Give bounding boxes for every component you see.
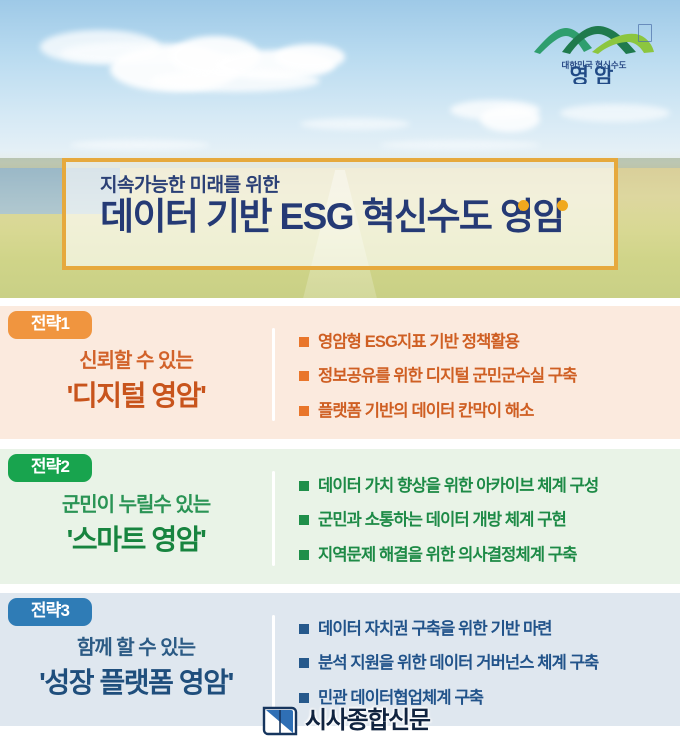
list-item: 지역문제 해결을 위한 의사결정체계 구축 bbox=[299, 545, 670, 566]
yeongam-logo: 대한민국 혁신수도 영암 bbox=[532, 22, 656, 84]
logo-seal-icon bbox=[638, 24, 652, 42]
square-bullet-icon bbox=[299, 515, 309, 525]
square-bullet-icon bbox=[299, 693, 309, 703]
list-item: 군민과 소통하는 데이터 개방 체계 구현 bbox=[299, 510, 670, 531]
strategy-1-title: '디지털 영암' bbox=[67, 380, 206, 412]
cloud-icon bbox=[300, 118, 410, 130]
cloud-icon bbox=[560, 104, 670, 122]
list-item-label: 정보공유를 위한 디지털 군민군수실 구축 bbox=[318, 366, 577, 387]
list-item-label: 데이터 자치권 구축을 위한 기반 마련 bbox=[318, 619, 552, 640]
watermark-label: 시사종합신문 bbox=[305, 709, 430, 733]
list-item-label: 분석 지원을 위한 데이터 거버넌스 체계 구축 bbox=[318, 653, 598, 674]
square-bullet-icon bbox=[299, 337, 309, 347]
hero-title-panel: 지속가능한 미래를 위한 데이터 기반 ESG 혁신수도 영암 bbox=[62, 158, 618, 270]
hero-banner: 대한민국 혁신수도 영암 지속가능한 미래를 위한 데이터 기반 ESG 혁신수… bbox=[0, 0, 680, 298]
dot-icon bbox=[557, 200, 568, 211]
strategy-1-bullet-list: 영암형 ESG지표 기반 정책활용 정보공유를 위한 디지털 군민군수실 구축 … bbox=[275, 306, 680, 439]
strategy-badge-3: 전략3 bbox=[8, 598, 92, 626]
list-item: 분석 지원을 위한 데이터 거버넌스 체계 구축 bbox=[299, 653, 670, 674]
strategy-section-1: 전략1 신뢰할 수 있는 '디지털 영암' 영암형 ESG지표 기반 정책활용 … bbox=[0, 306, 680, 439]
square-bullet-icon bbox=[299, 481, 309, 491]
cloud-icon bbox=[380, 140, 540, 150]
list-item: 데이터 자치권 구축을 위한 기반 마련 bbox=[299, 619, 670, 640]
list-item: 정보공유를 위한 디지털 군민군수실 구축 bbox=[299, 366, 670, 387]
strategy-2-bullet-list: 데이터 가치 향상을 위한 아카이브 체계 구성 군민과 소통하는 데이터 개방… bbox=[275, 449, 680, 584]
strategy-2-title: '스마트 영암' bbox=[67, 524, 206, 556]
strategy-1-subtitle: 신뢰할 수 있는 bbox=[79, 349, 193, 373]
strategy-section-2: 전략2 군민이 누릴수 있는 '스마트 영암' 데이터 가치 향상을 위한 아카… bbox=[0, 449, 680, 584]
strategy-2-subtitle: 군민이 누릴수 있는 bbox=[62, 493, 210, 517]
strategy-badge-1: 전략1 bbox=[8, 311, 92, 339]
newspaper-logo-icon bbox=[262, 704, 298, 738]
list-item: 영암형 ESG지표 기반 정책활용 bbox=[299, 332, 670, 353]
list-item-label: 영암형 ESG지표 기반 정책활용 bbox=[318, 332, 519, 353]
square-bullet-icon bbox=[299, 406, 309, 416]
list-item-label: 데이터 가치 향상을 위한 아카이브 체계 구성 bbox=[318, 476, 598, 497]
cloud-icon bbox=[70, 140, 210, 150]
logo-name: 영암 bbox=[570, 65, 619, 84]
list-item-label: 지역문제 해결을 위한 의사결정체계 구축 bbox=[318, 545, 577, 566]
list-item-label: 플랫폼 기반의 데이터 칸막이 해소 bbox=[318, 401, 534, 422]
cloud-icon bbox=[150, 70, 320, 92]
list-item: 데이터 가치 향상을 위한 아카이브 체계 구성 bbox=[299, 476, 670, 497]
infographic-page: 대한민국 혁신수도 영암 지속가능한 미래를 위한 데이터 기반 ESG 혁신수… bbox=[0, 0, 680, 742]
cloud-icon bbox=[275, 44, 345, 70]
cloud-icon bbox=[480, 106, 540, 132]
decorative-dots bbox=[514, 200, 578, 214]
square-bullet-icon bbox=[299, 371, 309, 381]
square-bullet-icon bbox=[299, 624, 309, 634]
dot-icon bbox=[518, 200, 529, 211]
list-item: 플랫폼 기반의 데이터 칸막이 해소 bbox=[299, 401, 670, 422]
hero-kicker: 지속가능한 미래를 위한 bbox=[100, 176, 592, 195]
strategy-3-subtitle: 함께 할 수 있는 bbox=[77, 636, 195, 660]
watermark: 시사종합신문 bbox=[262, 704, 430, 738]
list-item-label: 군민과 소통하는 데이터 개방 체계 구현 bbox=[318, 510, 566, 531]
square-bullet-icon bbox=[299, 658, 309, 668]
square-bullet-icon bbox=[299, 550, 309, 560]
strategy-badge-2: 전략2 bbox=[8, 454, 92, 482]
strategy-3-title: '성장 플랫폼 영암' bbox=[39, 667, 233, 699]
